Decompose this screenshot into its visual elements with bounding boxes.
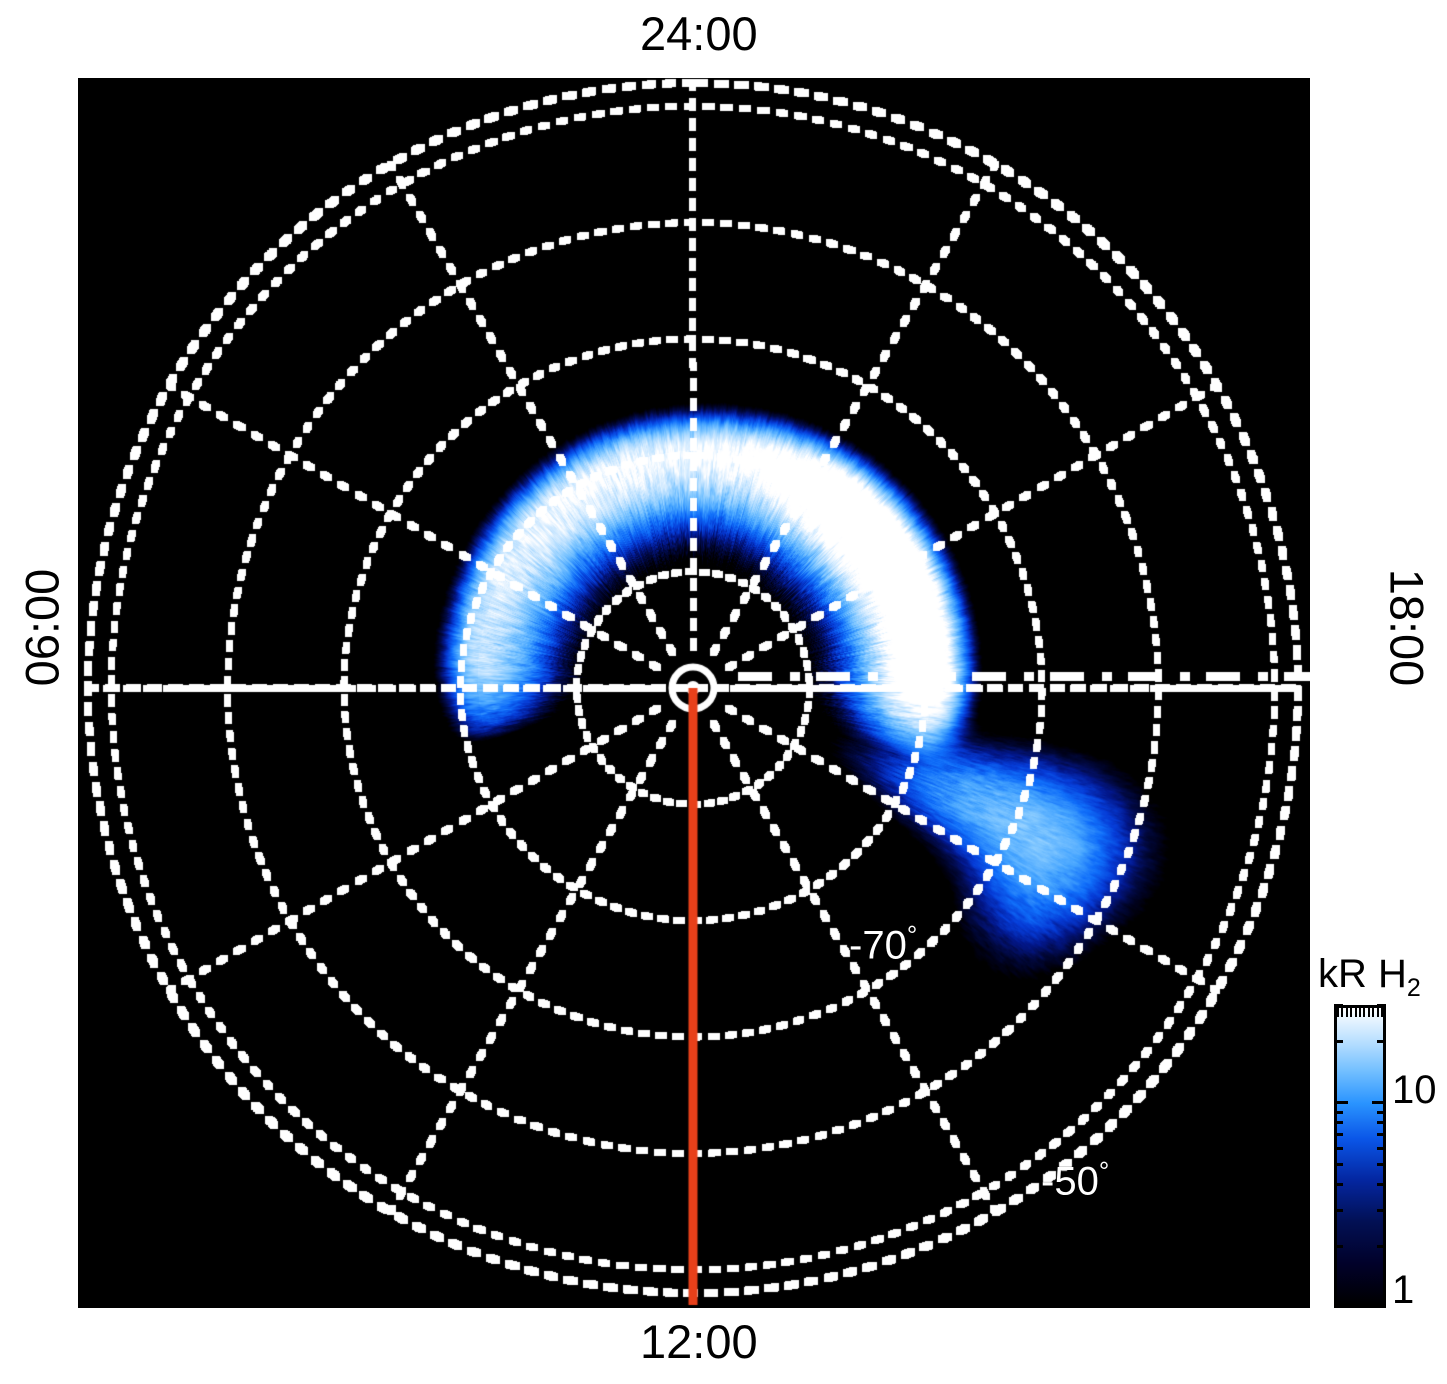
aurora-image-canvas bbox=[78, 78, 1310, 1308]
colorbar-top-tick bbox=[1355, 1008, 1357, 1017]
colorbar-top-tick bbox=[1337, 1008, 1339, 1017]
colorbar-tick bbox=[1377, 1121, 1386, 1124]
colorbar-tick bbox=[1377, 1133, 1386, 1136]
local-time-label-1200: 12:00 bbox=[640, 1318, 758, 1365]
colorbar-tick bbox=[1334, 1163, 1343, 1166]
latitude-label-70: -70° bbox=[849, 920, 917, 968]
local-time-label-0600: 06:00 bbox=[19, 548, 66, 708]
colorbar-tick bbox=[1377, 1209, 1386, 1212]
colorbar-tick bbox=[1377, 1183, 1386, 1186]
local-time-label-1800: 18:00 bbox=[1384, 548, 1431, 708]
colorbar-title: kR H2 bbox=[1318, 952, 1421, 1003]
colorbar-tick bbox=[1372, 1101, 1386, 1104]
colorbar-tick bbox=[1334, 1209, 1343, 1212]
colorbar-top-tick bbox=[1350, 1008, 1352, 1017]
colorbar-tick bbox=[1377, 1163, 1386, 1166]
colorbar-top-tick bbox=[1341, 1008, 1343, 1017]
colorbar-tick bbox=[1377, 1040, 1386, 1043]
colorbar-tick bbox=[1334, 1147, 1343, 1150]
colorbar-tick bbox=[1334, 1133, 1343, 1136]
colorbar-tick bbox=[1334, 1101, 1348, 1104]
colorbar-tick bbox=[1377, 1245, 1386, 1248]
colorbar-tick-label-1: 1 bbox=[1392, 1268, 1414, 1313]
colorbar-tick bbox=[1377, 1147, 1386, 1150]
colorbar bbox=[1334, 1005, 1386, 1308]
colorbar-top-tick bbox=[1359, 1008, 1361, 1017]
colorbar-tick bbox=[1334, 1245, 1343, 1248]
colorbar-tick bbox=[1334, 1183, 1343, 1186]
colorbar-tick bbox=[1377, 1004, 1386, 1007]
colorbar-gradient bbox=[1334, 1005, 1386, 1308]
auroral-polar-figure: -70° -50° 24:00 12:00 06:00 18:00 kR H2 … bbox=[0, 0, 1447, 1384]
colorbar-tick-label-10: 10 bbox=[1392, 1068, 1437, 1113]
colorbar-tick bbox=[1334, 1040, 1343, 1043]
latitude-label-50: -50° bbox=[1041, 1156, 1109, 1204]
colorbar-tick bbox=[1377, 1111, 1386, 1114]
colorbar-top-tick bbox=[1377, 1008, 1379, 1017]
local-time-label-2400: 24:00 bbox=[640, 10, 758, 57]
colorbar-top-tick bbox=[1372, 1008, 1374, 1017]
colorbar-top-tick bbox=[1381, 1008, 1383, 1017]
colorbar-tick bbox=[1334, 1111, 1343, 1114]
colorbar-top-tick bbox=[1346, 1008, 1348, 1017]
polar-plot-area bbox=[78, 78, 1310, 1308]
colorbar-top-tick bbox=[1363, 1008, 1365, 1017]
colorbar-top-tick bbox=[1368, 1008, 1370, 1017]
colorbar-tick bbox=[1334, 1121, 1343, 1124]
colorbar-tick bbox=[1334, 1004, 1343, 1007]
